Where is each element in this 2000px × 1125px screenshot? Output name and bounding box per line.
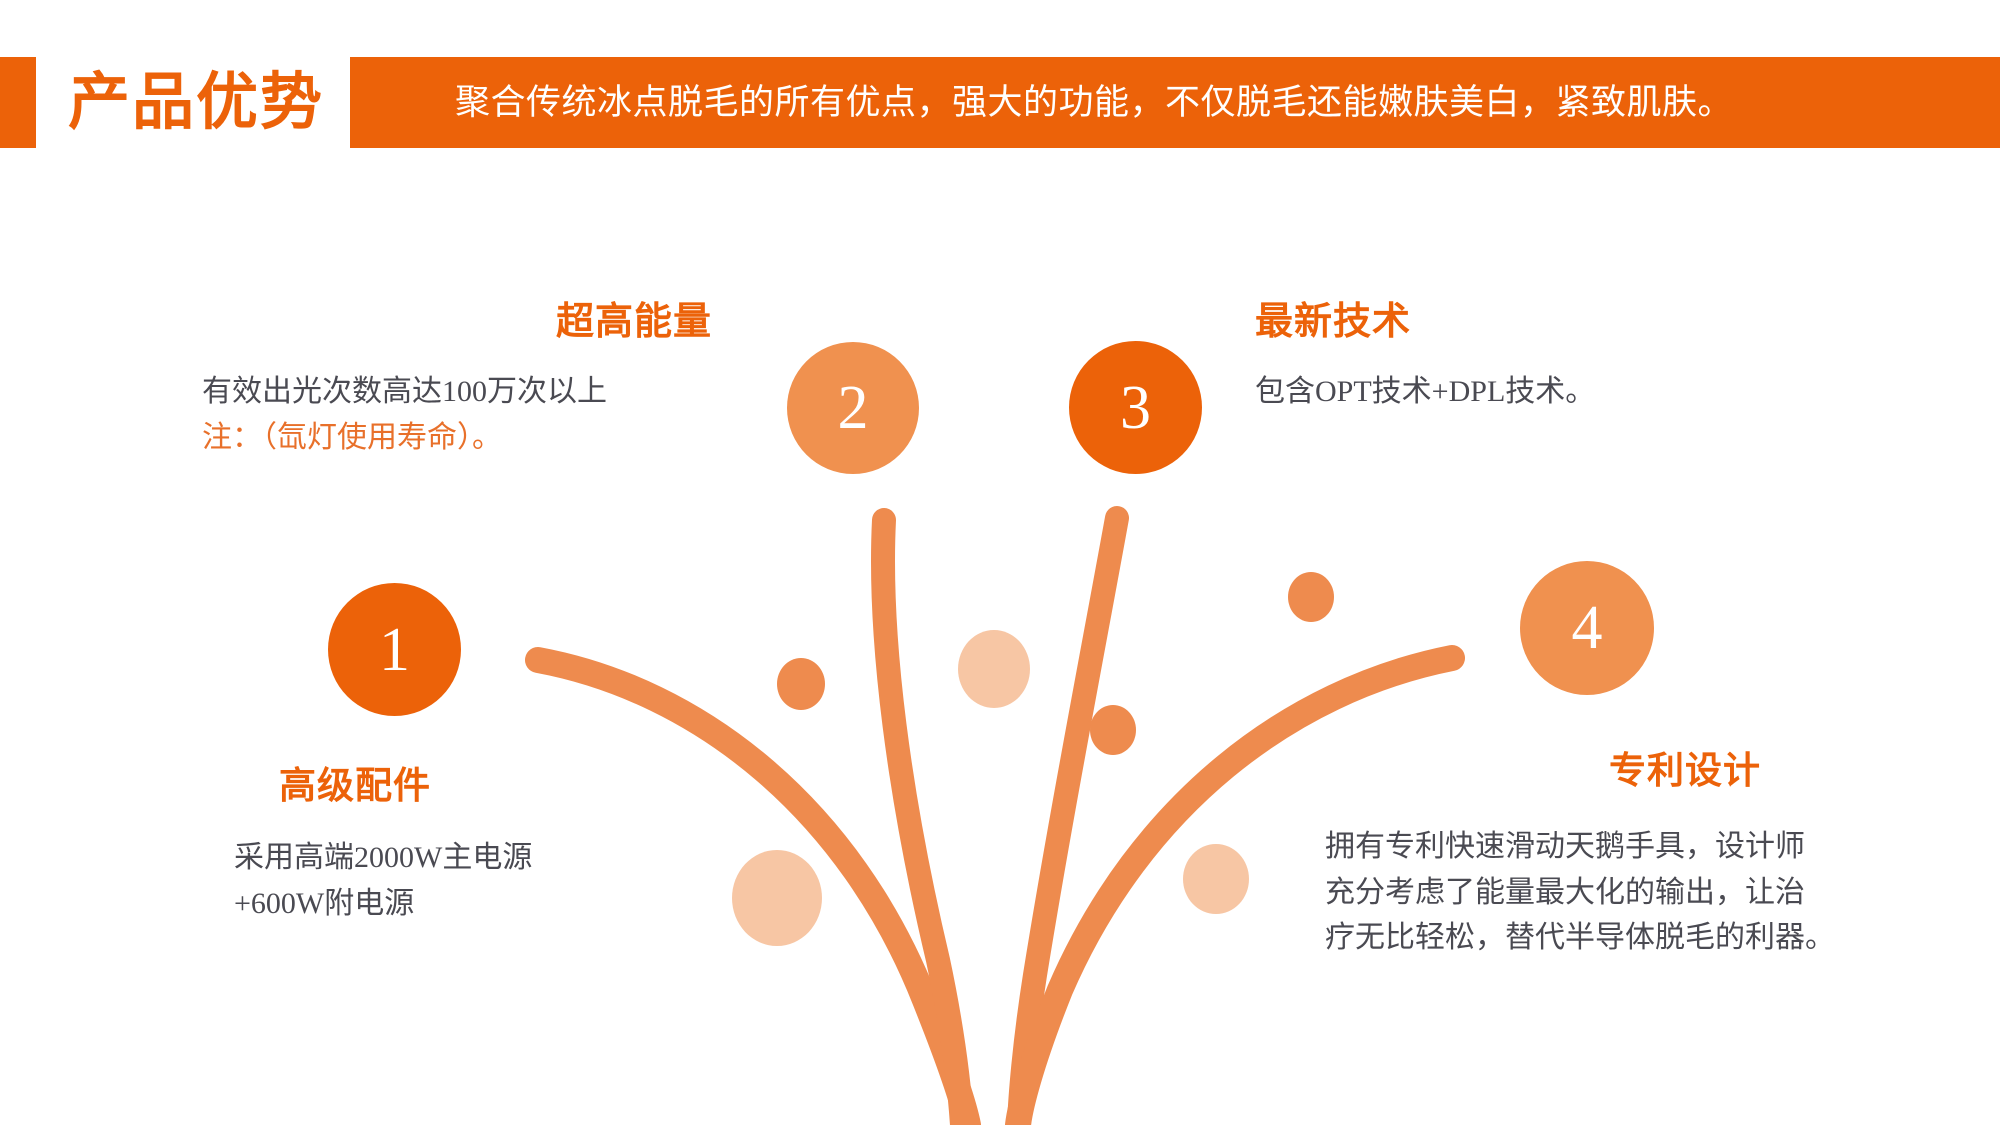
feature-body-line-2-1: 有效出光次数高达100万次以上 xyxy=(160,369,720,415)
feature-title-3: 最新技术 xyxy=(1255,290,1775,345)
feature-block-3: 最新技术 包含OPT技术+DPL技术。 xyxy=(1255,290,1775,415)
dot-small-mid xyxy=(1090,705,1136,755)
slide-root: 产品优势 聚合传统冰点脱毛的所有优点，强大的功能，不仅脱毛还能嫩肤美白，紧致肌肤… xyxy=(0,0,2000,1125)
stem-left-inner xyxy=(883,520,962,1125)
feature-body-line-4-2: 充分考虑了能量最大化的输出，让治 xyxy=(1325,870,1915,916)
decorative-dots xyxy=(732,572,1334,946)
header-banner-text: 聚合传统冰点脱毛的所有优点，强大的功能，不仅脱毛还能嫩肤美白，紧致肌肤。 xyxy=(455,57,1733,148)
dot-pale-lower-right xyxy=(1183,844,1249,914)
feature-block-2: 超高能量 有效出光次数高达100万次以上 注：（氙灯使用寿命）。 xyxy=(160,290,720,460)
feature-body-line-4-1: 拥有专利快速滑动天鹅手具，设计师 xyxy=(1325,824,1915,870)
slide-header: 产品优势 聚合传统冰点脱毛的所有优点，强大的功能，不仅脱毛还能嫩肤美白，紧致肌肤… xyxy=(0,57,2000,148)
feature-body-line-1-1: 采用高端2000W主电源 xyxy=(170,835,570,881)
feature-block-1: 高级配件 采用高端2000W主电源 +600W附电源 xyxy=(170,755,570,926)
feature-number-circle-2[interactable]: 2 xyxy=(787,342,919,474)
dot-small-left xyxy=(777,658,825,710)
feature-body-line-3-1: 包含OPT技术+DPL技术。 xyxy=(1255,369,1775,415)
feature-title-2: 超高能量 xyxy=(160,290,720,345)
dot-pale-lower-left xyxy=(732,850,822,946)
feature-body-line-4-3: 疗无比轻松，替代半导体脱毛的利器。 xyxy=(1325,915,1915,961)
page-title: 产品优势 xyxy=(68,53,324,152)
feature-number-circle-3[interactable]: 3 xyxy=(1069,341,1202,474)
feature-note-2: 注：（氙灯使用寿命）。 xyxy=(160,415,720,461)
feature-block-4: 专利设计 拥有专利快速滑动天鹅手具，设计师 充分考虑了能量最大化的输出，让治 疗… xyxy=(1325,740,1915,961)
feature-body-line-1-2: +600W附电源 xyxy=(170,881,570,927)
dot-small-right xyxy=(1288,572,1334,622)
feature-title-1: 高级配件 xyxy=(205,755,505,809)
feature-title-4: 专利设计 xyxy=(1520,740,1850,794)
stem-right-inner xyxy=(1019,518,1117,1125)
header-accent-bar xyxy=(0,57,36,148)
header-banner: 聚合传统冰点脱毛的所有优点，强大的功能，不仅脱毛还能嫩肤美白，紧致肌肤。 xyxy=(350,57,2000,148)
dot-pale-upper xyxy=(958,630,1030,708)
feature-number-circle-4[interactable]: 4 xyxy=(1520,561,1654,695)
feature-number-circle-1[interactable]: 1 xyxy=(328,583,461,716)
stem-left-outer xyxy=(538,660,968,1125)
